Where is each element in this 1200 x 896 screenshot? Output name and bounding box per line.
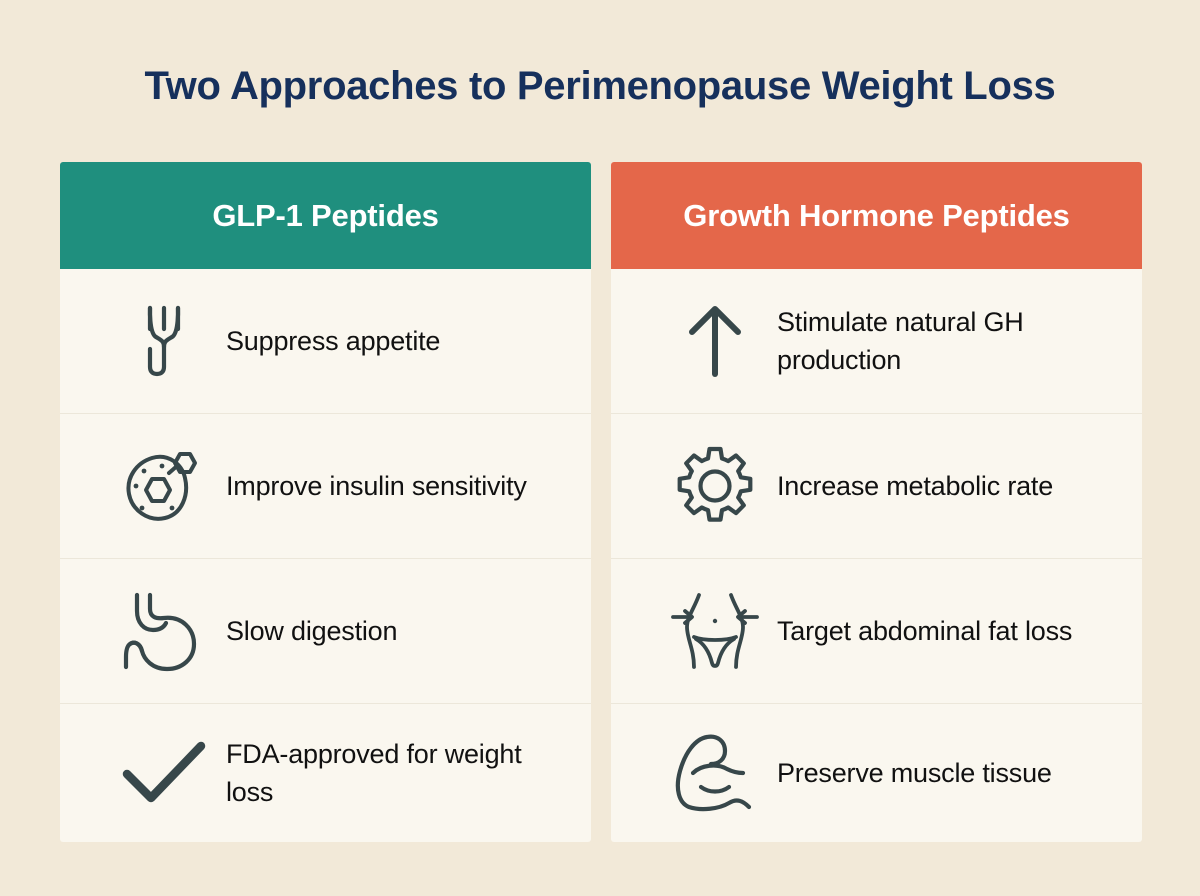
list-item-label: Improve insulin sensitivity (212, 467, 527, 505)
column-header-growth-hormone: Growth Hormone Peptides (611, 162, 1142, 269)
list-item-label: Target abdominal fat loss (763, 612, 1072, 650)
waist-slimming-icon (667, 588, 763, 674)
column-glp1: GLP-1 Peptides Suppress appetite (60, 162, 591, 842)
page-title: Two Approaches to Perimenopause Weight L… (0, 62, 1200, 110)
list-item: Increase metabolic rate (611, 414, 1142, 559)
list-item-label: Suppress appetite (212, 322, 440, 360)
list-item-label: Preserve muscle tissue (763, 754, 1052, 792)
list-item: FDA-approved for weight loss (60, 704, 591, 842)
list-item: Target abdominal fat loss (611, 559, 1142, 704)
column-header-glp1: GLP-1 Peptides (60, 162, 591, 269)
list-item-label: Slow digestion (212, 612, 397, 650)
column-rows-glp1: Suppress appetite (60, 269, 591, 842)
gear-icon (667, 443, 763, 529)
list-item: Improve insulin sensitivity (60, 414, 591, 559)
list-item: Suppress appetite (60, 269, 591, 414)
list-item: Preserve muscle tissue (611, 704, 1142, 842)
fork-icon (116, 298, 212, 384)
flexed-biceps-icon (667, 730, 763, 816)
cell-molecule-icon (116, 443, 212, 529)
list-item-label: Stimulate natural GH production (763, 303, 1107, 380)
infographic-page: Two Approaches to Perimenopause Weight L… (0, 0, 1200, 896)
column-rows-growth-hormone: Stimulate natural GH production Increase… (611, 269, 1142, 842)
list-item-label: Increase metabolic rate (763, 467, 1053, 505)
list-item: Stimulate natural GH production (611, 269, 1142, 414)
list-item: Slow digestion (60, 559, 591, 704)
checkmark-icon (116, 730, 212, 816)
up-arrow-icon (667, 298, 763, 384)
column-growth-hormone: Growth Hormone Peptides Stimulate natura… (611, 162, 1142, 842)
comparison-columns: GLP-1 Peptides Suppress appetite (60, 162, 1143, 842)
stomach-icon (116, 588, 212, 674)
list-item-label: FDA-approved for weight loss (212, 735, 556, 812)
